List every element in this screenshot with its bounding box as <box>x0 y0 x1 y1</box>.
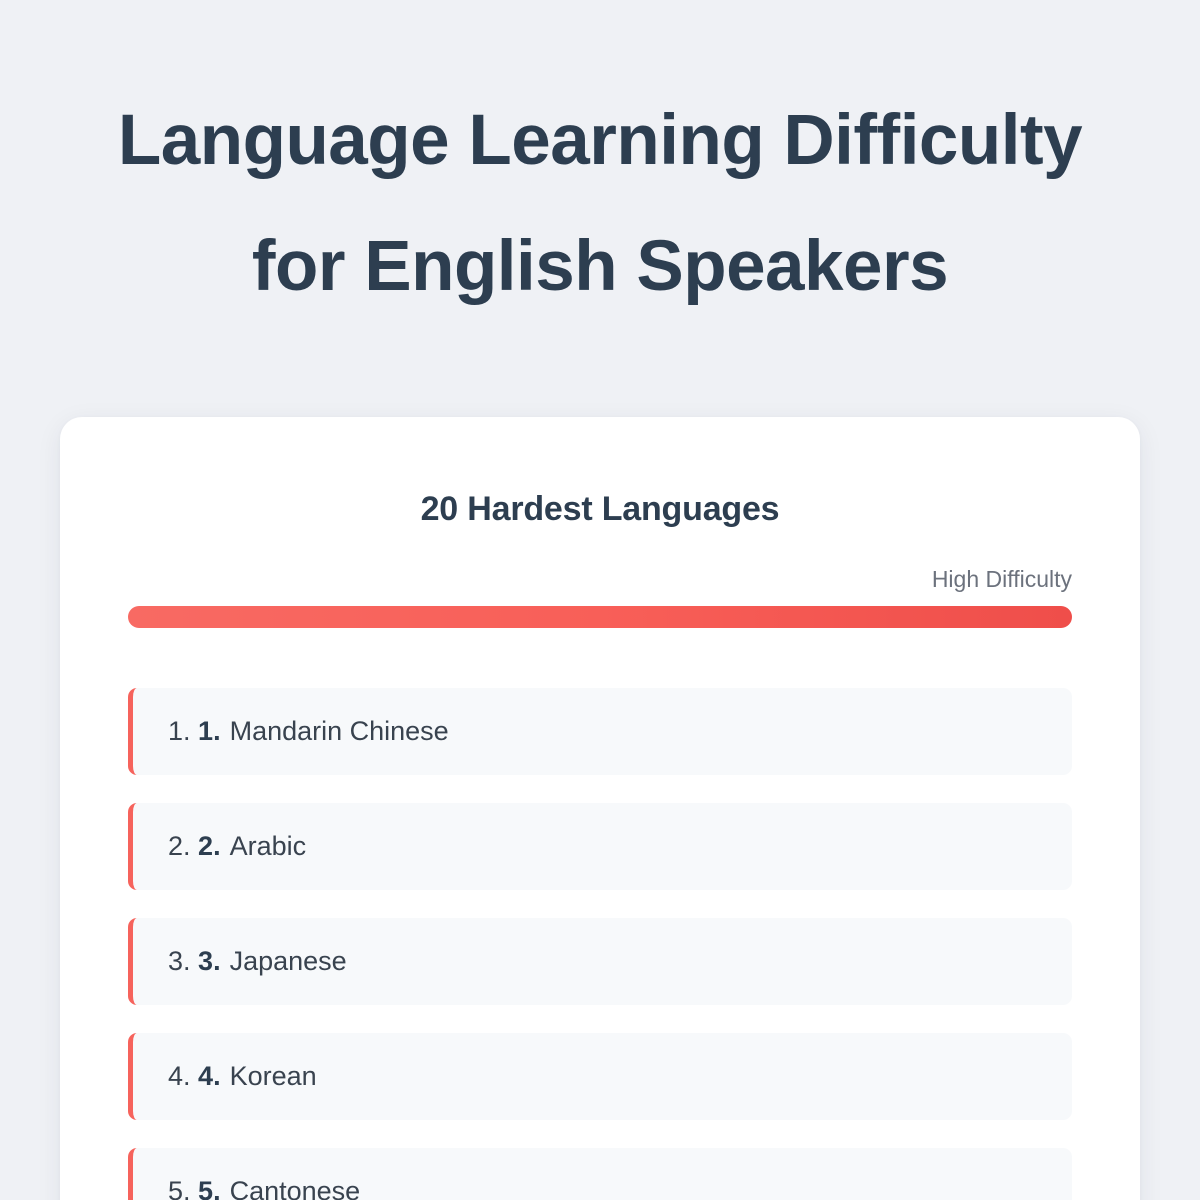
page-root: Language Learning Difficulty for English… <box>0 0 1200 1200</box>
list-item-rank: 1. <box>198 716 221 747</box>
difficulty-meter-label: High Difficulty <box>128 566 1072 607</box>
list-item-rank: 3. <box>198 946 221 977</box>
list-item-label: Japanese <box>221 946 347 977</box>
list-item[interactable]: 1. Mandarin Chinese <box>128 688 1072 775</box>
list-item-label: Korean <box>221 1061 317 1092</box>
list-item[interactable]: 3. Japanese <box>128 918 1072 1005</box>
list-item-label: Mandarin Chinese <box>221 716 449 747</box>
list-item-label: Cantonese <box>221 1176 361 1200</box>
page-title: Language Learning Difficulty for English… <box>0 0 1200 331</box>
card-heading: 20 Hardest Languages <box>128 489 1072 530</box>
hardest-languages-list: 1. Mandarin Chinese 2. Arabic 3. Japanes… <box>128 688 1072 1200</box>
list-item[interactable]: 2. Arabic <box>128 803 1072 890</box>
difficulty-meter: High Difficulty <box>128 566 1072 629</box>
difficulty-meter-bar <box>128 606 1072 628</box>
list-item[interactable]: 4. Korean <box>128 1033 1072 1120</box>
languages-card: 20 Hardest Languages High Difficulty 1. … <box>60 417 1140 1200</box>
list-item-label: Arabic <box>221 831 307 862</box>
list-item-rank: 5. <box>198 1176 221 1200</box>
list-item-rank: 4. <box>198 1061 221 1092</box>
list-item[interactable]: 5. Cantonese <box>128 1148 1072 1200</box>
list-item-rank: 2. <box>198 831 221 862</box>
